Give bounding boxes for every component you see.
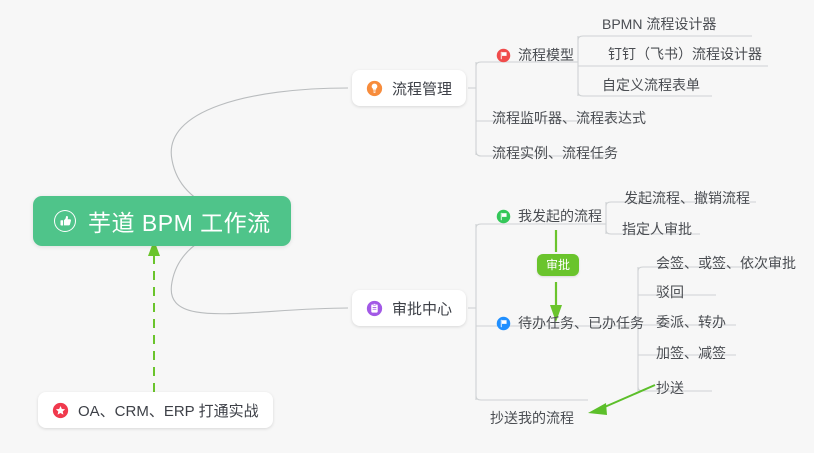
branch-node-label: 流程管理: [392, 78, 452, 99]
leaf-label: 加签、减签: [656, 340, 726, 366]
floating-node-integration[interactable]: OA、CRM、ERP 打通实战: [38, 392, 273, 428]
subnode-todo-done-tasks[interactable]: 待办任务、已办任务: [492, 310, 648, 336]
thumbs-up-icon: [53, 209, 77, 233]
lightbulb-icon: [366, 80, 383, 97]
leaf-add-remove-sign[interactable]: 加签、减签: [652, 340, 730, 366]
leaf-cc[interactable]: 抄送: [652, 375, 688, 401]
leaf-label: BPMN 流程设计器: [602, 11, 716, 37]
root-node[interactable]: 芋道 BPM 工作流: [33, 196, 291, 246]
subnode-label: 我发起的流程: [518, 203, 602, 229]
subnode-label: 待办任务、已办任务: [518, 310, 644, 336]
branch-node-approval-center[interactable]: 审批中心: [352, 290, 466, 326]
leaf-bpmn-designer[interactable]: BPMN 流程设计器: [598, 11, 720, 37]
leaf-countersign[interactable]: 会签、或签、依次审批: [652, 250, 800, 276]
annotation-badge-label: 审批: [546, 258, 570, 272]
root-node-label: 芋道 BPM 工作流: [88, 204, 271, 238]
leaf-label: 流程监听器、流程表达式: [492, 105, 646, 131]
flag-icon: [496, 316, 511, 331]
subnode-label: 流程模型: [518, 42, 574, 68]
star-icon: [52, 402, 69, 419]
leaf-label: 自定义流程表单: [602, 72, 700, 98]
leaf-label: 指定人审批: [622, 216, 692, 242]
flag-icon: [496, 209, 511, 224]
leaf-label: 驳回: [656, 279, 684, 305]
leaf-process-instance-task[interactable]: 流程实例、流程任务: [488, 140, 622, 166]
branch-node-process-management[interactable]: 流程管理: [352, 70, 466, 106]
cc-arrow-line: [600, 385, 655, 409]
leaf-label: 钉钉（飞书）流程设计器: [608, 41, 762, 67]
leaf-process-listener-expression[interactable]: 流程监听器、流程表达式: [488, 105, 650, 131]
leaf-label: 抄送我的流程: [490, 405, 574, 431]
leaf-custom-form[interactable]: 自定义流程表单: [598, 72, 704, 98]
leaf-assignee-approval[interactable]: 指定人审批: [618, 216, 696, 242]
flag-icon: [496, 48, 511, 63]
floating-node-label: OA、CRM、ERP 打通实战: [78, 400, 259, 421]
leaf-label: 发起流程、撤销流程: [624, 185, 750, 211]
annotation-badge-approval: 审批: [537, 254, 579, 276]
mindmap-canvas: 芋道 BPM 工作流 流程管理 流程模型 BPMN 流程设计器 钉钉（飞书）流程: [0, 0, 814, 453]
clipboard-icon: [366, 300, 383, 317]
leaf-cc-to-me-process[interactable]: 抄送我的流程: [486, 405, 578, 431]
leaf-label: 流程实例、流程任务: [492, 140, 618, 166]
leaf-start-cancel-process[interactable]: 发起流程、撤销流程: [620, 185, 754, 211]
subnode-process-model[interactable]: 流程模型: [492, 42, 578, 68]
leaf-label: 委派、转办: [656, 309, 726, 335]
leaf-dingtalk-designer[interactable]: 钉钉（飞书）流程设计器: [604, 41, 766, 67]
leaf-delegate-transfer[interactable]: 委派、转办: [652, 309, 730, 335]
cc-arrow-head: [588, 403, 607, 415]
leaf-reject[interactable]: 驳回: [652, 279, 688, 305]
leaf-label: 抄送: [656, 375, 684, 401]
subnode-my-initiated-process[interactable]: 我发起的流程: [492, 203, 606, 229]
leaf-label: 会签、或签、依次审批: [656, 250, 796, 276]
branch-node-label: 审批中心: [392, 298, 452, 319]
